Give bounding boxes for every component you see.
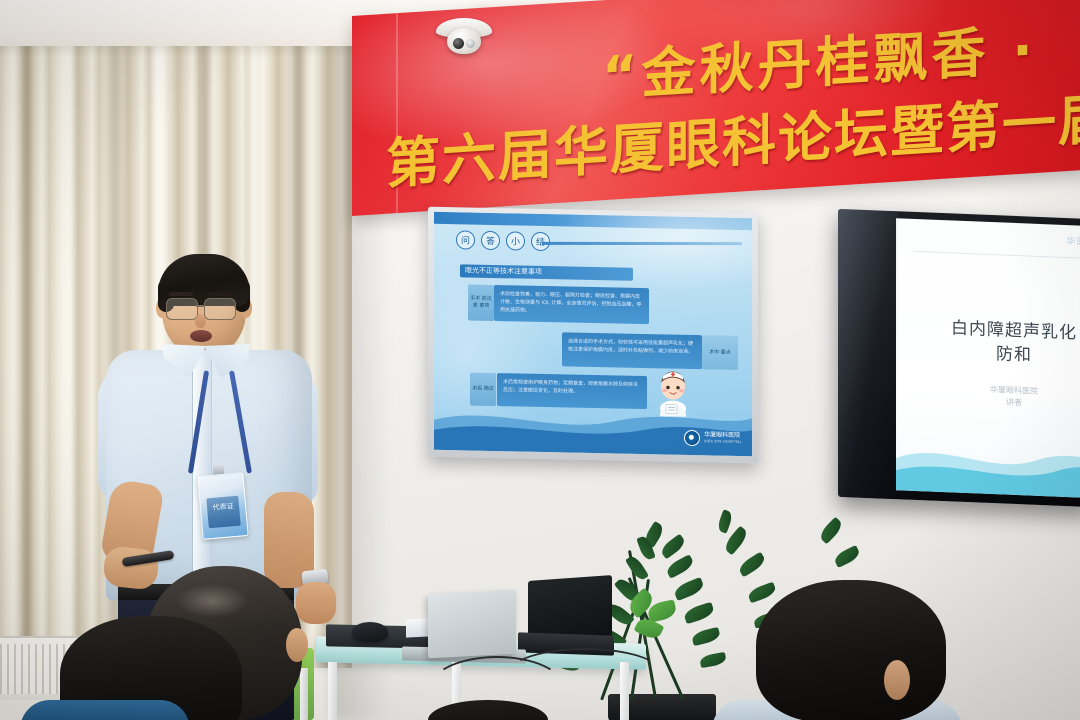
slide-wave-decoration bbox=[434, 398, 752, 456]
slide-header-char: 答 bbox=[481, 231, 500, 250]
presenter-left-hand bbox=[102, 545, 160, 590]
tv-slide-logo: 华厦 KM bbox=[1066, 233, 1080, 250]
slide-header-char: 问 bbox=[456, 230, 475, 249]
slide-block-body: 术前检查完善，视力、眼压、裂隙灯检查；眼底检查、角膜内皮计数、生物测量与 IOL… bbox=[494, 285, 649, 324]
projection-screen-surface: 问 答 小 结 眼光不正等技术注意事项 手术 前注意 事项 术前检查完善，视力、… bbox=[434, 212, 752, 456]
eyeglasses-icon bbox=[204, 298, 236, 320]
camera-ir-icon bbox=[466, 39, 475, 48]
presenter-eyebrow bbox=[207, 292, 231, 296]
curtain-highlight bbox=[62, 18, 76, 668]
audience-hair-highlight bbox=[176, 584, 248, 618]
silver-laptop-screen[interactable] bbox=[428, 590, 516, 659]
camera-lens-icon bbox=[453, 38, 464, 49]
plant-leaf bbox=[691, 627, 721, 646]
eyeglasses-bridge bbox=[196, 305, 204, 307]
tv-wave-decoration bbox=[896, 432, 1080, 499]
wall-tv: 华厦 KM 白内障超声乳化 防和 华厦眼科医院 讲者 Hisense bbox=[838, 209, 1080, 507]
tv-screen-surface: 华厦 KM 白内障超声乳化 防和 华厦眼科医院 讲者 Hisense bbox=[896, 218, 1080, 499]
dome-camera-icon bbox=[447, 28, 481, 54]
slide-block-tag: 术中 要点 bbox=[702, 335, 738, 370]
slide-block-tag: 手术 前注意 事项 bbox=[468, 284, 494, 321]
audience-shoulder bbox=[20, 700, 190, 720]
tv-glare bbox=[838, 209, 898, 499]
audience-member-head bbox=[756, 580, 946, 720]
projection-screen-frame: 问 答 小 结 眼光不正等技术注意事项 手术 前注意 事项 术前检查完善，视力、… bbox=[428, 207, 758, 464]
plant-leaf bbox=[817, 517, 844, 545]
slide-block-body: 选择合适的手术方式，较软核可采用低能量超声乳化；硬核注意保护角膜内皮，适时补充粘… bbox=[562, 332, 702, 369]
plant-leaf bbox=[665, 554, 696, 579]
slide-header-rule bbox=[542, 242, 742, 245]
eye-logo-icon bbox=[684, 430, 700, 446]
plant-leaf bbox=[747, 582, 778, 604]
tv-slide-title: 白内障超声乳化 防和 bbox=[896, 314, 1080, 371]
audience-ear bbox=[884, 660, 910, 700]
plant-leaf bbox=[832, 545, 861, 568]
plant-leaf bbox=[716, 509, 734, 533]
conference-room-photo: “金秋丹桂飘香 · 第六届华厦眼科论坛暨第一届青 问 答 小 结 眼光不正等技术… bbox=[0, 0, 1080, 720]
tv-slide-rule bbox=[914, 251, 1080, 261]
desk-cable bbox=[508, 648, 662, 698]
plant-leaf bbox=[659, 534, 688, 560]
computer-mouse[interactable] bbox=[352, 622, 388, 642]
id-badge: 代表证 bbox=[197, 472, 248, 540]
slide-header: 问 答 小 结 bbox=[456, 230, 550, 251]
tv-logo-cn: 华厦 bbox=[1066, 234, 1080, 248]
presenter-right-hand bbox=[296, 582, 336, 624]
presenter-mouth bbox=[190, 330, 212, 342]
plant-leaf bbox=[683, 602, 716, 625]
slide-logo-en: AIER EYE HOSPITAL bbox=[704, 438, 742, 446]
presenter-nose bbox=[195, 314, 206, 328]
slide-header-char: 小 bbox=[506, 231, 525, 250]
curtain-fold bbox=[18, 18, 34, 668]
audience-ear bbox=[286, 628, 308, 662]
plant-leaf bbox=[699, 652, 727, 668]
slide-hospital-logo: 华厦眼科医院 AIER EYE HOSPITAL bbox=[684, 430, 742, 447]
eyeglasses-icon bbox=[166, 298, 198, 320]
presenter-eyebrow bbox=[169, 292, 193, 296]
plant-leaf bbox=[737, 552, 768, 578]
plant-leaf bbox=[672, 577, 705, 601]
tv-slide-subtitle: 华厦眼科医院 讲者 bbox=[896, 380, 1080, 413]
